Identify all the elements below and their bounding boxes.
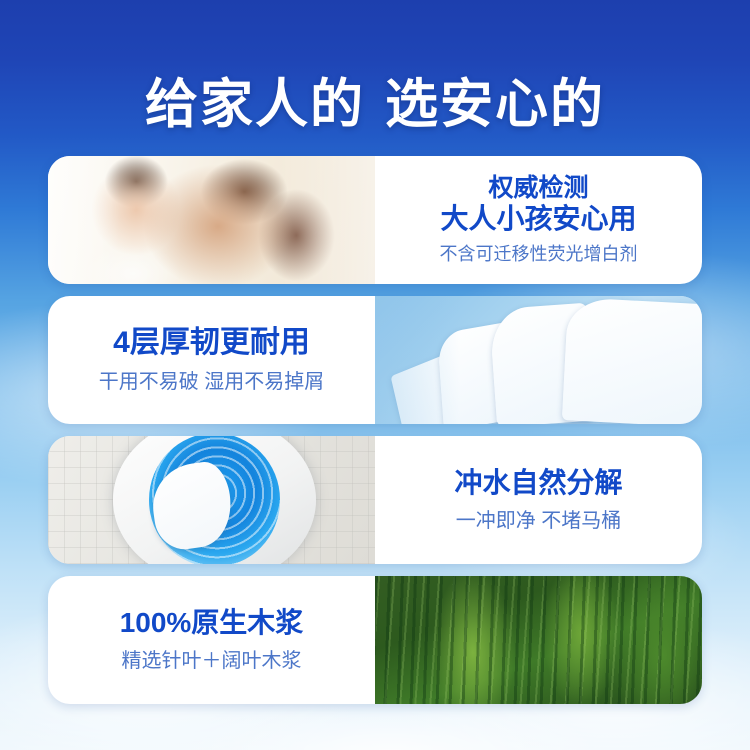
card-title-line-1: 权威检测 [440, 174, 636, 202]
card-title: 4层厚韧更耐用 [113, 326, 310, 360]
card-text-block: 权威检测 大人小孩安心用 不含可迁移性荧光增白剂 [375, 156, 702, 284]
product-feature-poster: 给家人的选安心的 权威检测 大人小孩安心用 不含可迁移性荧光增白剂 4层厚韧更耐… [0, 0, 750, 750]
card-subtitle: 一冲即净 不堵马桶 [456, 504, 622, 533]
card-text-block: 100%原生木浆 精选针叶＋阔叶木浆 [48, 576, 375, 704]
toilet-flush-photo [48, 436, 375, 564]
feature-card-virgin-wood-pulp: 100%原生木浆 精选针叶＋阔叶木浆 [48, 576, 702, 704]
feature-card-four-ply-durable: 4层厚韧更耐用 干用不易破 湿用不易掉屑 [48, 296, 702, 424]
card-title: 权威检测 大人小孩安心用 [440, 174, 636, 234]
card-title-line-2: 大人小孩安心用 [440, 203, 636, 234]
forest-photo [375, 576, 702, 704]
headline-part-2: 选安心的 [385, 75, 605, 134]
card-text-block: 冲水自然分解 一冲即净 不堵马桶 [375, 436, 702, 564]
card-subtitle: 不含可迁移性荧光增白剂 [440, 240, 638, 266]
poster-headline: 给家人的选安心的 [0, 62, 750, 138]
card-subtitle: 干用不易破 湿用不易掉屑 [99, 365, 325, 394]
headline-part-1: 给家人的 [145, 75, 365, 134]
mother-and-baby-photo [48, 156, 375, 284]
tissue-sheets-photo [375, 296, 702, 424]
card-title: 冲水自然分解 [454, 467, 622, 498]
card-title: 100%原生木浆 [120, 607, 304, 638]
feature-card-list: 权威检测 大人小孩安心用 不含可迁移性荧光增白剂 4层厚韧更耐用 干用不易破 湿… [48, 156, 702, 716]
card-text-block: 4层厚韧更耐用 干用不易破 湿用不易掉屑 [48, 296, 375, 424]
feature-card-authority-test: 权威检测 大人小孩安心用 不含可迁移性荧光增白剂 [48, 156, 702, 284]
feature-card-flushable: 冲水自然分解 一冲即净 不堵马桶 [48, 436, 702, 564]
card-subtitle: 精选针叶＋阔叶木浆 [122, 644, 302, 673]
